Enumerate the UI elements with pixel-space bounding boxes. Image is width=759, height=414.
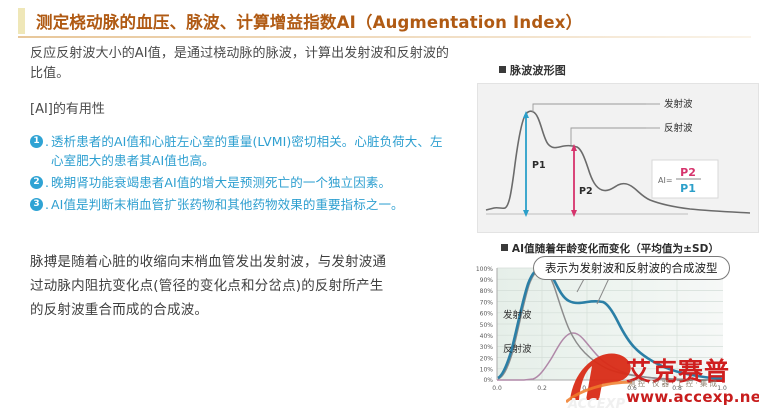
figure2-caption: AI值随着年龄变化而变化（平均值为±SD） — [465, 241, 755, 256]
emission-wave-label: 发射波 — [664, 98, 693, 110]
y-tick: 80% — [480, 288, 494, 295]
emission-leader-line — [533, 104, 646, 112]
pulse-waveform-figure: P1 P2 发射波 反射波 AI= P2 P1 — [477, 83, 759, 233]
list-item-text: AI值是判断末梢血管扩张药物和其他药物效果的重要指标之一。 — [51, 195, 450, 214]
y-tick: 40% — [480, 333, 494, 340]
y-tick: 50% — [480, 322, 494, 329]
page-title-row: 测定桡动脉的血压、脉波、计算增益指数AI（Augmentation Index） — [0, 6, 759, 36]
y-tick: 10% — [480, 367, 494, 374]
title-accent-bar — [18, 8, 25, 34]
list-number-dot: . — [43, 173, 51, 192]
ai-formula-lhs: AI= — [658, 176, 673, 185]
pulse-waveform-svg: P1 P2 发射波 反射波 AI= P2 P1 — [478, 84, 758, 232]
left-content-column: 反应反射波大小的AI值，是通过桡动脉的脉波，计算出发射波和反射波的比值。 [AI… — [30, 44, 450, 322]
list-item: 1 . 透析患者的AI值和心脏左心室的重量(LVMI)密切相关。心脏负荷大、左心… — [30, 132, 450, 170]
x-tick: 0.6 — [627, 385, 637, 392]
y-tick: 30% — [480, 344, 494, 351]
list-number-badge: 1 — [30, 135, 43, 148]
page-title: 测定桡动脉的血压、脉波、计算增益指数AI（Augmentation Index） — [36, 9, 582, 33]
x-tick: 0.8 — [672, 385, 682, 392]
list-number-dot: . — [43, 132, 51, 151]
list-item-text: 晚期肾功能衰竭患者AI值的增大是预测死亡的一个独立因素。 — [51, 173, 450, 192]
title-divider — [18, 36, 751, 38]
x-tick: 0.4 — [582, 385, 592, 392]
x-tick-labels: 0.0 0.2 0.4 0.6 0.8 1.0 — [492, 385, 727, 392]
usefulness-list: 1 . 透析患者的AI值和心脏左心室的重量(LVMI)密切相关。心脏负荷大、左心… — [30, 132, 450, 214]
reflection-leader-line — [571, 128, 646, 145]
x-tick: 0.0 — [492, 385, 502, 392]
list-item: 2 . 晚期肾功能衰竭患者AI值的增大是预测死亡的一个独立因素。 — [30, 173, 450, 192]
list-item-text: 透析患者的AI值和心脏左心室的重量(LVMI)密切相关。心脏负荷大、左心室肥大的… — [51, 132, 450, 170]
y-tick: 20% — [480, 355, 494, 362]
ai-age-figure: 100% 90% 80% 70% 60% 50% 40% 30% 20% 10%… — [465, 260, 755, 400]
p2-label: P2 — [579, 186, 593, 197]
bullet-square-icon — [499, 66, 506, 73]
y-tick: 90% — [480, 277, 494, 284]
y-tick-labels: 100% 90% 80% 70% 60% 50% 40% 30% 20% 10%… — [476, 266, 493, 384]
x-tick: 1.0 — [717, 385, 727, 392]
list-number-badge: 3 — [30, 198, 43, 211]
p1-label: P1 — [532, 160, 546, 171]
emission-wave-label: 发射波 — [503, 309, 532, 321]
y-tick: 100% — [476, 266, 493, 273]
bullet-square-icon — [501, 244, 508, 251]
list-number-dot: . — [43, 195, 51, 214]
figure2-caption-text: AI值随着年龄变化而变化（平均值为±SD） — [512, 243, 719, 255]
y-tick: 60% — [480, 311, 494, 318]
ai-age-svg: 100% 90% 80% 70% 60% 50% 40% 30% 20% 10%… — [465, 260, 755, 400]
ai-formula-denominator: P1 — [680, 182, 696, 195]
composite-wave-callout: 表示为发射波和反射波的合成波型 — [533, 256, 730, 280]
list-number-badge: 2 — [30, 176, 43, 189]
figure1-caption: 脉波波形图 — [499, 62, 755, 78]
section-subheading: [AI]的有用性 — [30, 100, 450, 120]
ai-formula-numerator: P2 — [680, 166, 696, 179]
y-tick: 70% — [480, 299, 494, 306]
list-item: 3 . AI值是判断末梢血管扩张药物和其他药物效果的重要指标之一。 — [30, 195, 450, 214]
lead-paragraph: 反应反射波大小的AI值，是通过桡动脉的脉波，计算出发射波和反射波的比值。 — [30, 44, 450, 84]
reflection-wave-label: 反射波 — [664, 122, 693, 134]
reflection-wave-label: 反射波 — [503, 343, 532, 355]
right-figure-column: 脉波波形图 P1 P2 发射波 反射波 — [465, 62, 755, 400]
x-tick: 0.2 — [537, 385, 547, 392]
y-tick: 0% — [483, 377, 493, 384]
figure1-caption-text: 脉波波形图 — [510, 64, 566, 77]
body-paragraph: 脉搏是随着心脏的收缩向末梢血管发出发射波，与发射波通过动脉内阻抗变化点(管径的变… — [30, 250, 390, 322]
